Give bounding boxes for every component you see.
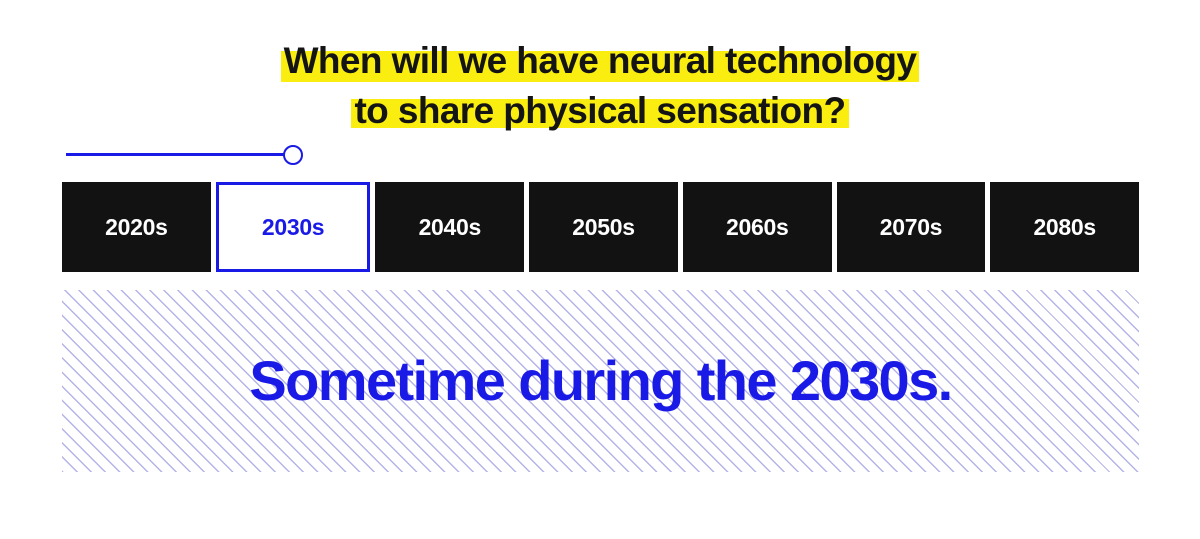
tab-2070s[interactable]: 2070s (837, 182, 986, 272)
tab-2060s[interactable]: 2060s (683, 182, 832, 272)
answer-text: Sometime during the 2030s. (249, 353, 951, 409)
tab-2080s[interactable]: 2080s (990, 182, 1139, 272)
tab-2030s[interactable]: 2030s (216, 182, 371, 272)
poll-widget: When will we have neural technology to s… (0, 0, 1200, 539)
tab-2050s-label: 2050s (572, 214, 634, 241)
answer-panel: Sometime during the 2030s. (62, 290, 1139, 472)
tab-2020s-label: 2020s (105, 214, 167, 241)
tab-2070s-label: 2070s (880, 214, 942, 241)
slider-thumb-handle[interactable] (283, 145, 303, 165)
slider-track[interactable] (66, 153, 290, 156)
question-line-2: to share physical sensation? (0, 88, 1200, 134)
tab-2080s-label: 2080s (1033, 214, 1095, 241)
decade-slider[interactable] (62, 142, 382, 168)
tab-2030s-label: 2030s (262, 214, 324, 241)
tab-2040s[interactable]: 2040s (375, 182, 524, 272)
tab-2050s[interactable]: 2050s (529, 182, 678, 272)
page-title: When will we have neural technology to s… (0, 38, 1200, 134)
question-line-2-highlight: to share physical sensation? (351, 88, 848, 134)
tab-2060s-label: 2060s (726, 214, 788, 241)
question-line-1-highlight: When will we have neural technology (281, 38, 920, 84)
decade-tab-bar: 2020s 2030s 2040s 2050s 2060s 2070s 2080… (62, 182, 1139, 272)
tab-2020s[interactable]: 2020s (62, 182, 211, 272)
question-line-1: When will we have neural technology (0, 38, 1200, 84)
tab-2040s-label: 2040s (419, 214, 481, 241)
